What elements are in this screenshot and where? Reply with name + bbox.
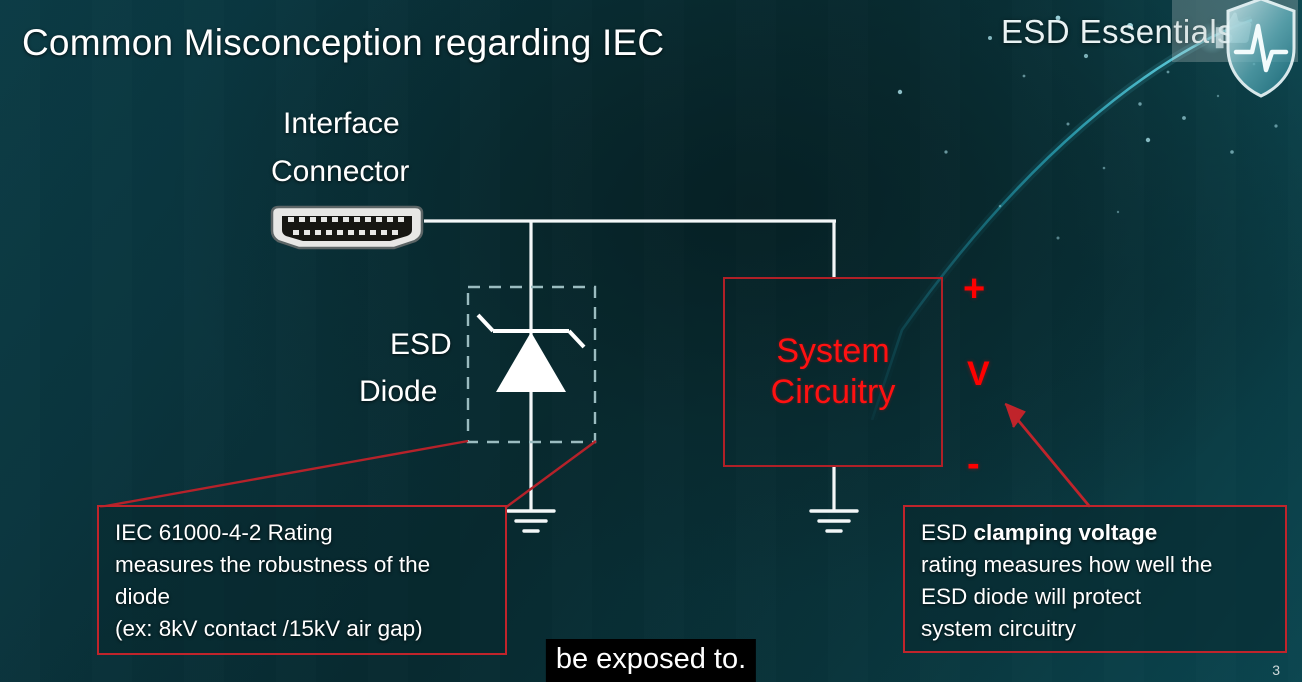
video-caption: be exposed to. [546, 639, 756, 682]
interface-label-line1: Interface [283, 107, 400, 141]
left-callout-leader-lines [100, 441, 596, 508]
callout-right-line4: system circuitry [921, 613, 1271, 645]
esd-label-line1: ESD [390, 328, 452, 362]
callout-right-line3: ESD diode will protect [921, 581, 1271, 613]
callout-iec-rating: IEC 61000-4-2 Rating measures the robust… [97, 505, 507, 655]
callout-right-line2: rating measures how well the [921, 549, 1271, 581]
callout-left-line4: (ex: 8kV contact /15kV air gap) [115, 613, 491, 645]
interface-label-line2: Connector [271, 155, 409, 189]
callout-left-line2: measures the robustness of the [115, 549, 491, 581]
ground-symbol-diode [508, 511, 554, 531]
page-number: 3 [1272, 662, 1280, 678]
esd-label-line2: Diode [359, 375, 437, 409]
callout-left-line3: diode [115, 581, 491, 613]
polarity-plus-label: + [963, 268, 985, 311]
slide-canvas: Common Misconception regarding IEC ESD E… [0, 0, 1302, 682]
hdmi-connector-icon [266, 203, 428, 251]
ground-symbol-system [811, 511, 857, 531]
system-circuitry-line1: System [776, 332, 889, 371]
callout-right-line1-bold: clamping voltage [974, 520, 1158, 545]
system-circuitry-line2: Circuitry [771, 373, 896, 412]
right-callout-arrow [1005, 404, 1090, 507]
voltage-v-label: V [967, 355, 990, 394]
polarity-minus-label: - [967, 443, 980, 486]
system-circuitry-box: System Circuitry [723, 277, 943, 467]
callout-left-line1: IEC 61000-4-2 Rating [115, 517, 491, 549]
callout-right-line1-prefix: ESD [921, 520, 974, 545]
callout-clamping-voltage: ESD clamping voltage rating measures how… [903, 505, 1287, 653]
callout-right-line1: ESD clamping voltage [921, 517, 1271, 549]
